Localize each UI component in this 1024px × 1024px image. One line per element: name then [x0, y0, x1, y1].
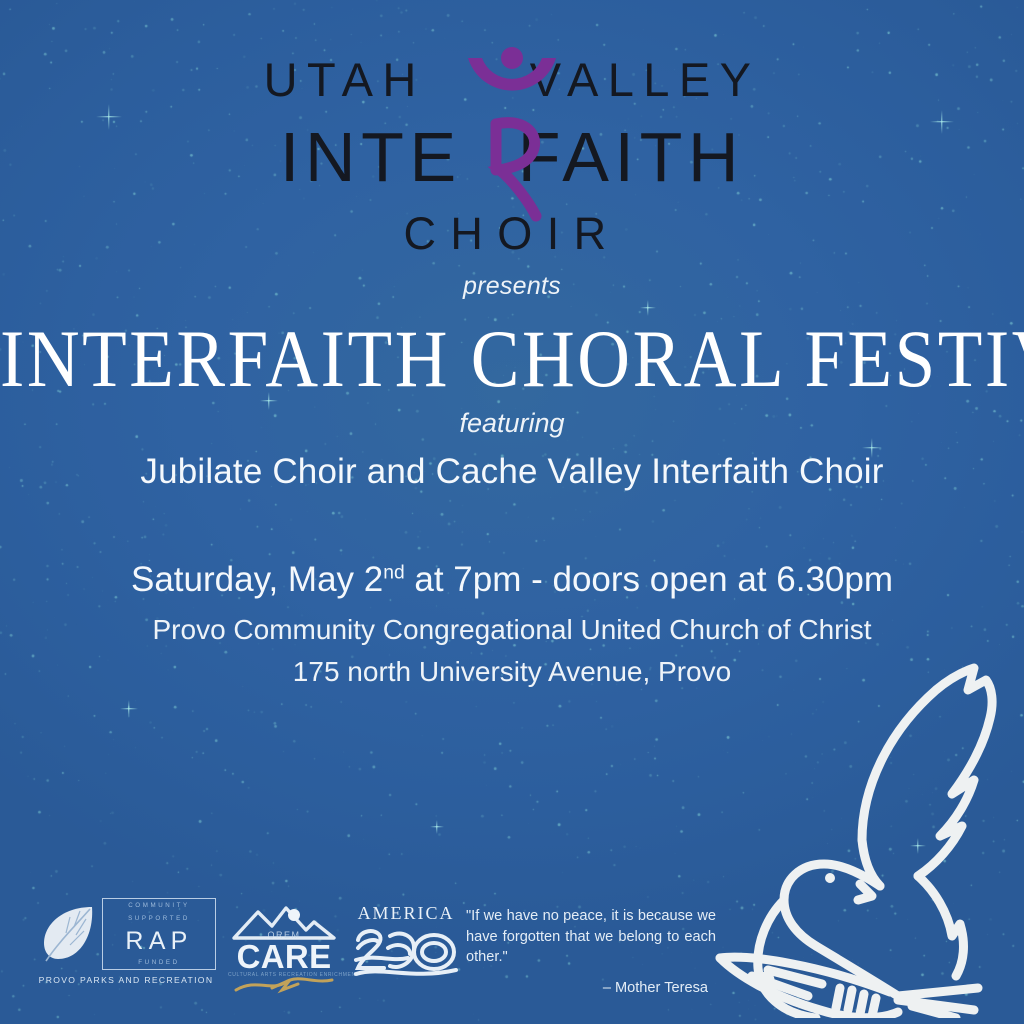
america250-wordmark: AMERICA [352, 904, 460, 922]
poster-canvas: UTAH VALLEY INTE FAITH CHOIR pre [0, 0, 1024, 1024]
leaf-icon [40, 901, 98, 967]
sponsor-logo-rap: COMMUNITY SUPPORTED RAP FUNDED PROVO PAR… [36, 898, 216, 990]
logo-word-faith: FAITH [518, 122, 744, 192]
featuring-label: featuring [0, 408, 1024, 439]
page-title: INTERFAITH CHORAL FESTIVAL [0, 312, 1024, 406]
logo-word-choir: CHOIR [404, 211, 621, 256]
logo-line-choir: CHOIR [404, 208, 621, 258]
event-date-prefix: Saturday, May 2 [131, 560, 383, 599]
quote-block: "If we have no peace, it is because we h… [466, 906, 716, 996]
choir-logo: UTAH VALLEY INTE FAITH CHOIR [0, 48, 1024, 258]
logo-line-interfaith: INTE FAITH [280, 120, 744, 194]
rap-line-supported: SUPPORTED [109, 915, 209, 923]
logo-word-inte: INTE [280, 122, 462, 192]
logo-word-utah: UTAH [264, 56, 426, 103]
care-wordmark: CARE [228, 940, 340, 973]
quote-text: "If we have no peace, it is because we h… [466, 906, 716, 968]
rap-line-community: COMMUNITY [109, 902, 209, 910]
sparkle-star [120, 700, 138, 718]
sponsor-logo-orem-care: OREM CARE CULTURAL ARTS RECREATION ENRIC… [228, 900, 340, 992]
rap-line-funded: FUNDED [109, 959, 209, 967]
quote-attribution: – Mother Teresa [466, 980, 716, 996]
logo-line-utah-valley: UTAH VALLEY [264, 48, 761, 110]
rap-wordmark: RAP [109, 929, 209, 954]
presents-label: presents [0, 272, 1024, 301]
rap-caption: PROVO PARKS AND RECREATION [36, 975, 216, 985]
performers-line: Jubilate Choir and Cache Valley Interfai… [0, 452, 1024, 492]
event-date-line: Saturday, May 2nd at 7pm - doors open at… [0, 560, 1024, 600]
sparkle-star [430, 820, 444, 834]
sponsor-logo-america250: AMERICA [352, 904, 460, 988]
footer-sponsors: COMMUNITY SUPPORTED RAP FUNDED PROVO PAR… [0, 898, 1024, 998]
wave-ribbon-icon [352, 924, 460, 982]
event-date-suffix: at 7pm - doors open at 6.30pm [405, 560, 893, 599]
care-swoosh-icon [228, 976, 340, 996]
event-date-ordinal: nd [383, 562, 404, 583]
dove-eye-icon [825, 873, 835, 883]
